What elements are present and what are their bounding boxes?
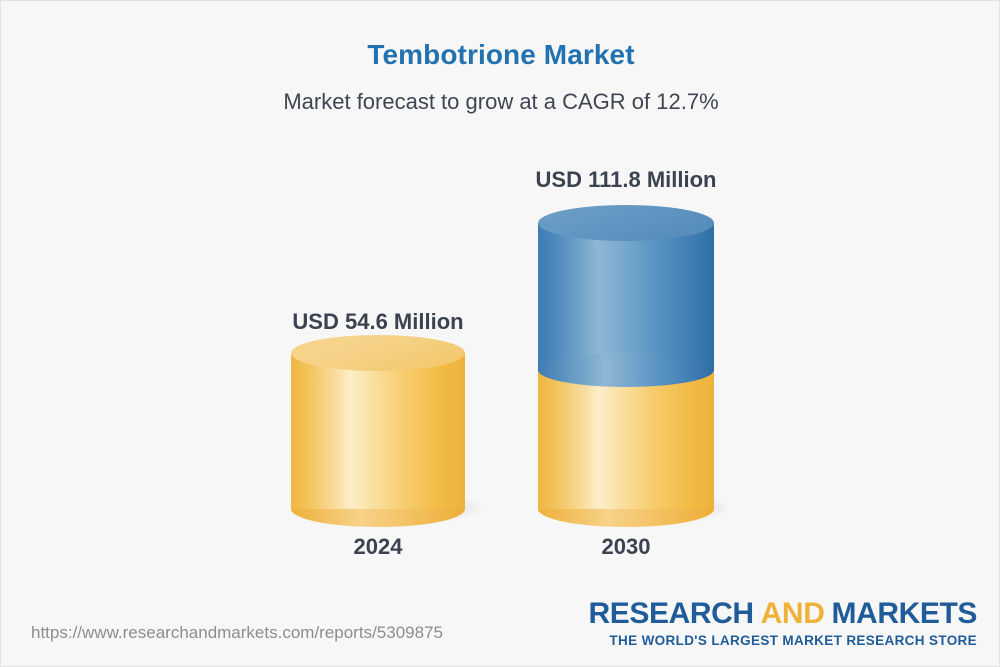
cylinder-top-cap-2030 (538, 205, 714, 241)
chart-plot-area: USD 54.6 Million 2024 USD 111.8 Million (1, 1, 1000, 667)
bar-category-label-2024: 2024 (278, 534, 478, 560)
bar-category-label-2030: 2030 (526, 534, 726, 560)
logo-word-research: RESEARCH (589, 597, 754, 630)
logo-tagline: THE WORLD'S LARGEST MARKET RESEARCH STOR… (589, 634, 977, 648)
bar-value-label-2024: USD 54.6 Million (278, 309, 478, 335)
logo-wordmark: RESEARCHANDMARKETS (589, 599, 977, 629)
cylinder-top-cap-2024 (291, 335, 465, 371)
logo-word-and: AND (761, 597, 825, 630)
chart-card: Tembotrione Market Market forecast to gr… (0, 0, 1000, 667)
researchandmarkets-logo[interactable]: RESEARCHANDMARKETS THE WORLD'S LARGEST M… (589, 599, 977, 648)
cylinder-body-upper-2030 (538, 223, 714, 371)
cylinder-body-2024 (291, 353, 465, 509)
logo-word-markets: MARKETS (831, 597, 977, 630)
cylinder-body-lower-2030 (538, 369, 714, 509)
cylinder-segment-join-2030 (538, 353, 714, 387)
bar-value-label-2030: USD 111.8 Million (526, 167, 726, 193)
source-url[interactable]: https://www.researchandmarkets.com/repor… (31, 623, 443, 643)
